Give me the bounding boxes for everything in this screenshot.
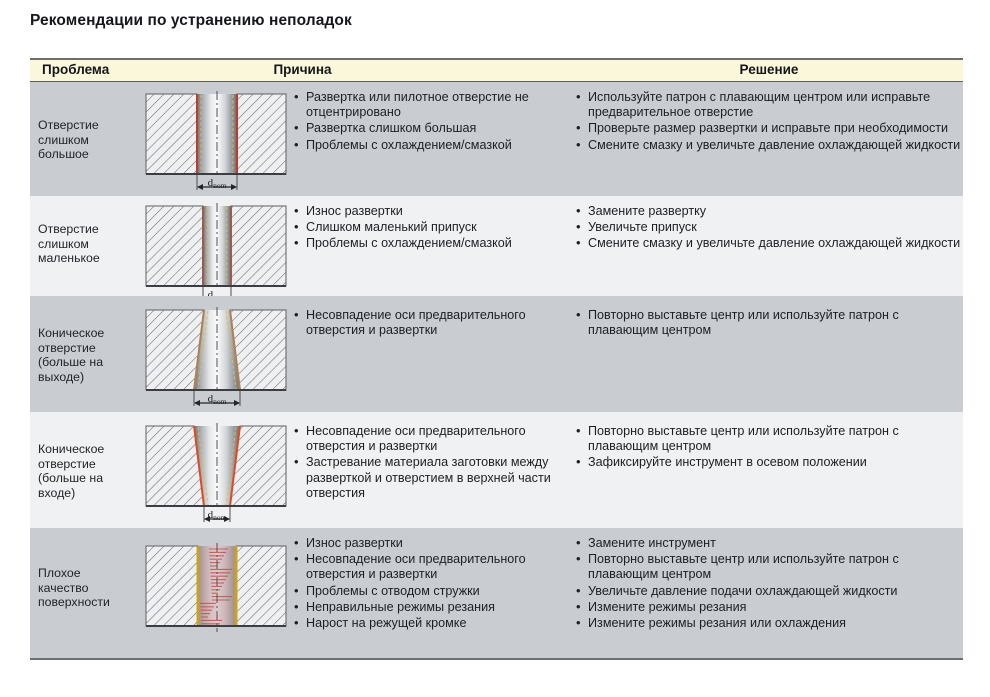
table-row: ОтверстиеслишкоммаленькоеdnomИзнос разве… [30, 196, 963, 296]
cause-item: Проблемы с охлаждением/смазкой [294, 138, 574, 153]
table-row: Коническоеотверстие(больше навходе)dnomН… [30, 412, 963, 528]
cause-item: Износ развертки [294, 536, 574, 551]
solution-item: Зафиксируйте инструмент в осевом положен… [576, 455, 963, 470]
cause-item: Нарост на режущей кромке [294, 616, 574, 631]
solution-list: Замените инструментПовторно выставьте це… [576, 536, 963, 632]
solution-item: Смените смазку и увеличьте давление охла… [576, 236, 963, 251]
table-row: Коническоеотверстие(больше навыходе)dnom… [30, 296, 963, 412]
table-header-row: Проблема Причина Решение [30, 58, 963, 82]
svg-text:dnom: dnom [208, 289, 227, 296]
problem-label: Коническоеотверстие(больше навыходе) [38, 326, 143, 384]
cause-item: Проблемы с охлаждением/смазкой [294, 236, 574, 251]
solution-list: Замените разверткуУвеличьте припускСмени… [576, 204, 963, 253]
solution-list: Повторно выставьте центр или используйте… [576, 308, 963, 339]
solution-item: Измените режимы резания или охлаждения [576, 616, 963, 631]
solution-list: Повторно выставьте центр или используйте… [576, 424, 963, 472]
solution-item: Повторно выставьте центр или используйте… [576, 308, 963, 338]
table-row: ОтверстиеслишкомбольшоеdnomРазвертка или… [30, 82, 963, 196]
cause-item: Неправильные режимы резания [294, 600, 574, 615]
problem-label: Отверстиеслишкомбольшое [38, 118, 143, 162]
problem-label: Плохоекачествоповерхности [38, 566, 143, 610]
cause-list: Несовпадение оси предварительного отверс… [294, 308, 574, 339]
cause-item: Несовпадение оси предварительного отверс… [294, 552, 574, 582]
solution-item: Повторно выставьте центр или используйте… [576, 552, 963, 582]
column-header-cause: Причина [30, 62, 575, 77]
solution-item: Увеличьте давление подачи охлаждающей жи… [576, 584, 963, 599]
tapered-hole-wider-at-exit-cross-section: dnom [140, 296, 305, 412]
table-row: ПлохоекачествоповерхностиИзнос развертки… [30, 528, 963, 660]
solution-item: Проверьте размер развертки и исправьте п… [576, 121, 963, 136]
problem-label: Отверстиеслишкоммаленькое [38, 222, 143, 266]
solution-item: Смените смазку и увеличьте давление охла… [576, 138, 963, 153]
problem-label: Коническоеотверстие(больше навходе) [38, 442, 143, 500]
cause-item: Несовпадение оси предварительного отверс… [294, 424, 574, 454]
cause-item: Несовпадение оси предварительного отверс… [294, 308, 574, 338]
cause-list: Износ разверткиСлишком маленький припуск… [294, 204, 574, 253]
hole-too-small-cross-section: dnom [140, 196, 305, 296]
cause-item: Застревание материала заготовки между ра… [294, 455, 574, 501]
solution-item: Повторно выставьте центр или используйте… [576, 424, 963, 454]
tapered-hole-wider-at-entry-cross-section: dnom [140, 412, 305, 528]
cause-item: Износ развертки [294, 204, 574, 219]
troubleshooting-table: Проблема Причина Решение Отверстиеслишко… [30, 58, 963, 660]
hole-too-large-cross-section: dnom [140, 82, 305, 196]
poor-surface-finish-cross-section [140, 528, 305, 658]
page-title: Рекомендации по устранению неполадок [30, 12, 352, 30]
svg-text:dnom: dnom [208, 393, 227, 406]
cause-item: Развертка слишком большая [294, 121, 574, 136]
cause-item: Развертка или пилотное отверстие не отце… [294, 90, 574, 120]
svg-text:dnom: dnom [208, 177, 227, 190]
svg-text:dnom: dnom [208, 509, 227, 522]
solution-list: Используйте патрон с плавающим центром и… [576, 90, 963, 154]
cause-item: Проблемы с отводом стружки [294, 584, 574, 599]
cause-list: Износ разверткиНесовпадение оси предвари… [294, 536, 574, 632]
solution-item: Замените развертку [576, 204, 963, 219]
solution-item: Измените режимы резания [576, 600, 963, 615]
cause-list: Развертка или пилотное отверстие не отце… [294, 90, 574, 154]
cause-list: Несовпадение оси предварительного отверс… [294, 424, 574, 502]
solution-item: Замените инструмент [576, 536, 963, 551]
solution-item: Увеличьте припуск [576, 220, 963, 235]
solution-item: Используйте патрон с плавающим центром и… [576, 90, 963, 120]
column-header-solution: Решение [575, 62, 963, 77]
cause-item: Слишком маленький припуск [294, 220, 574, 235]
